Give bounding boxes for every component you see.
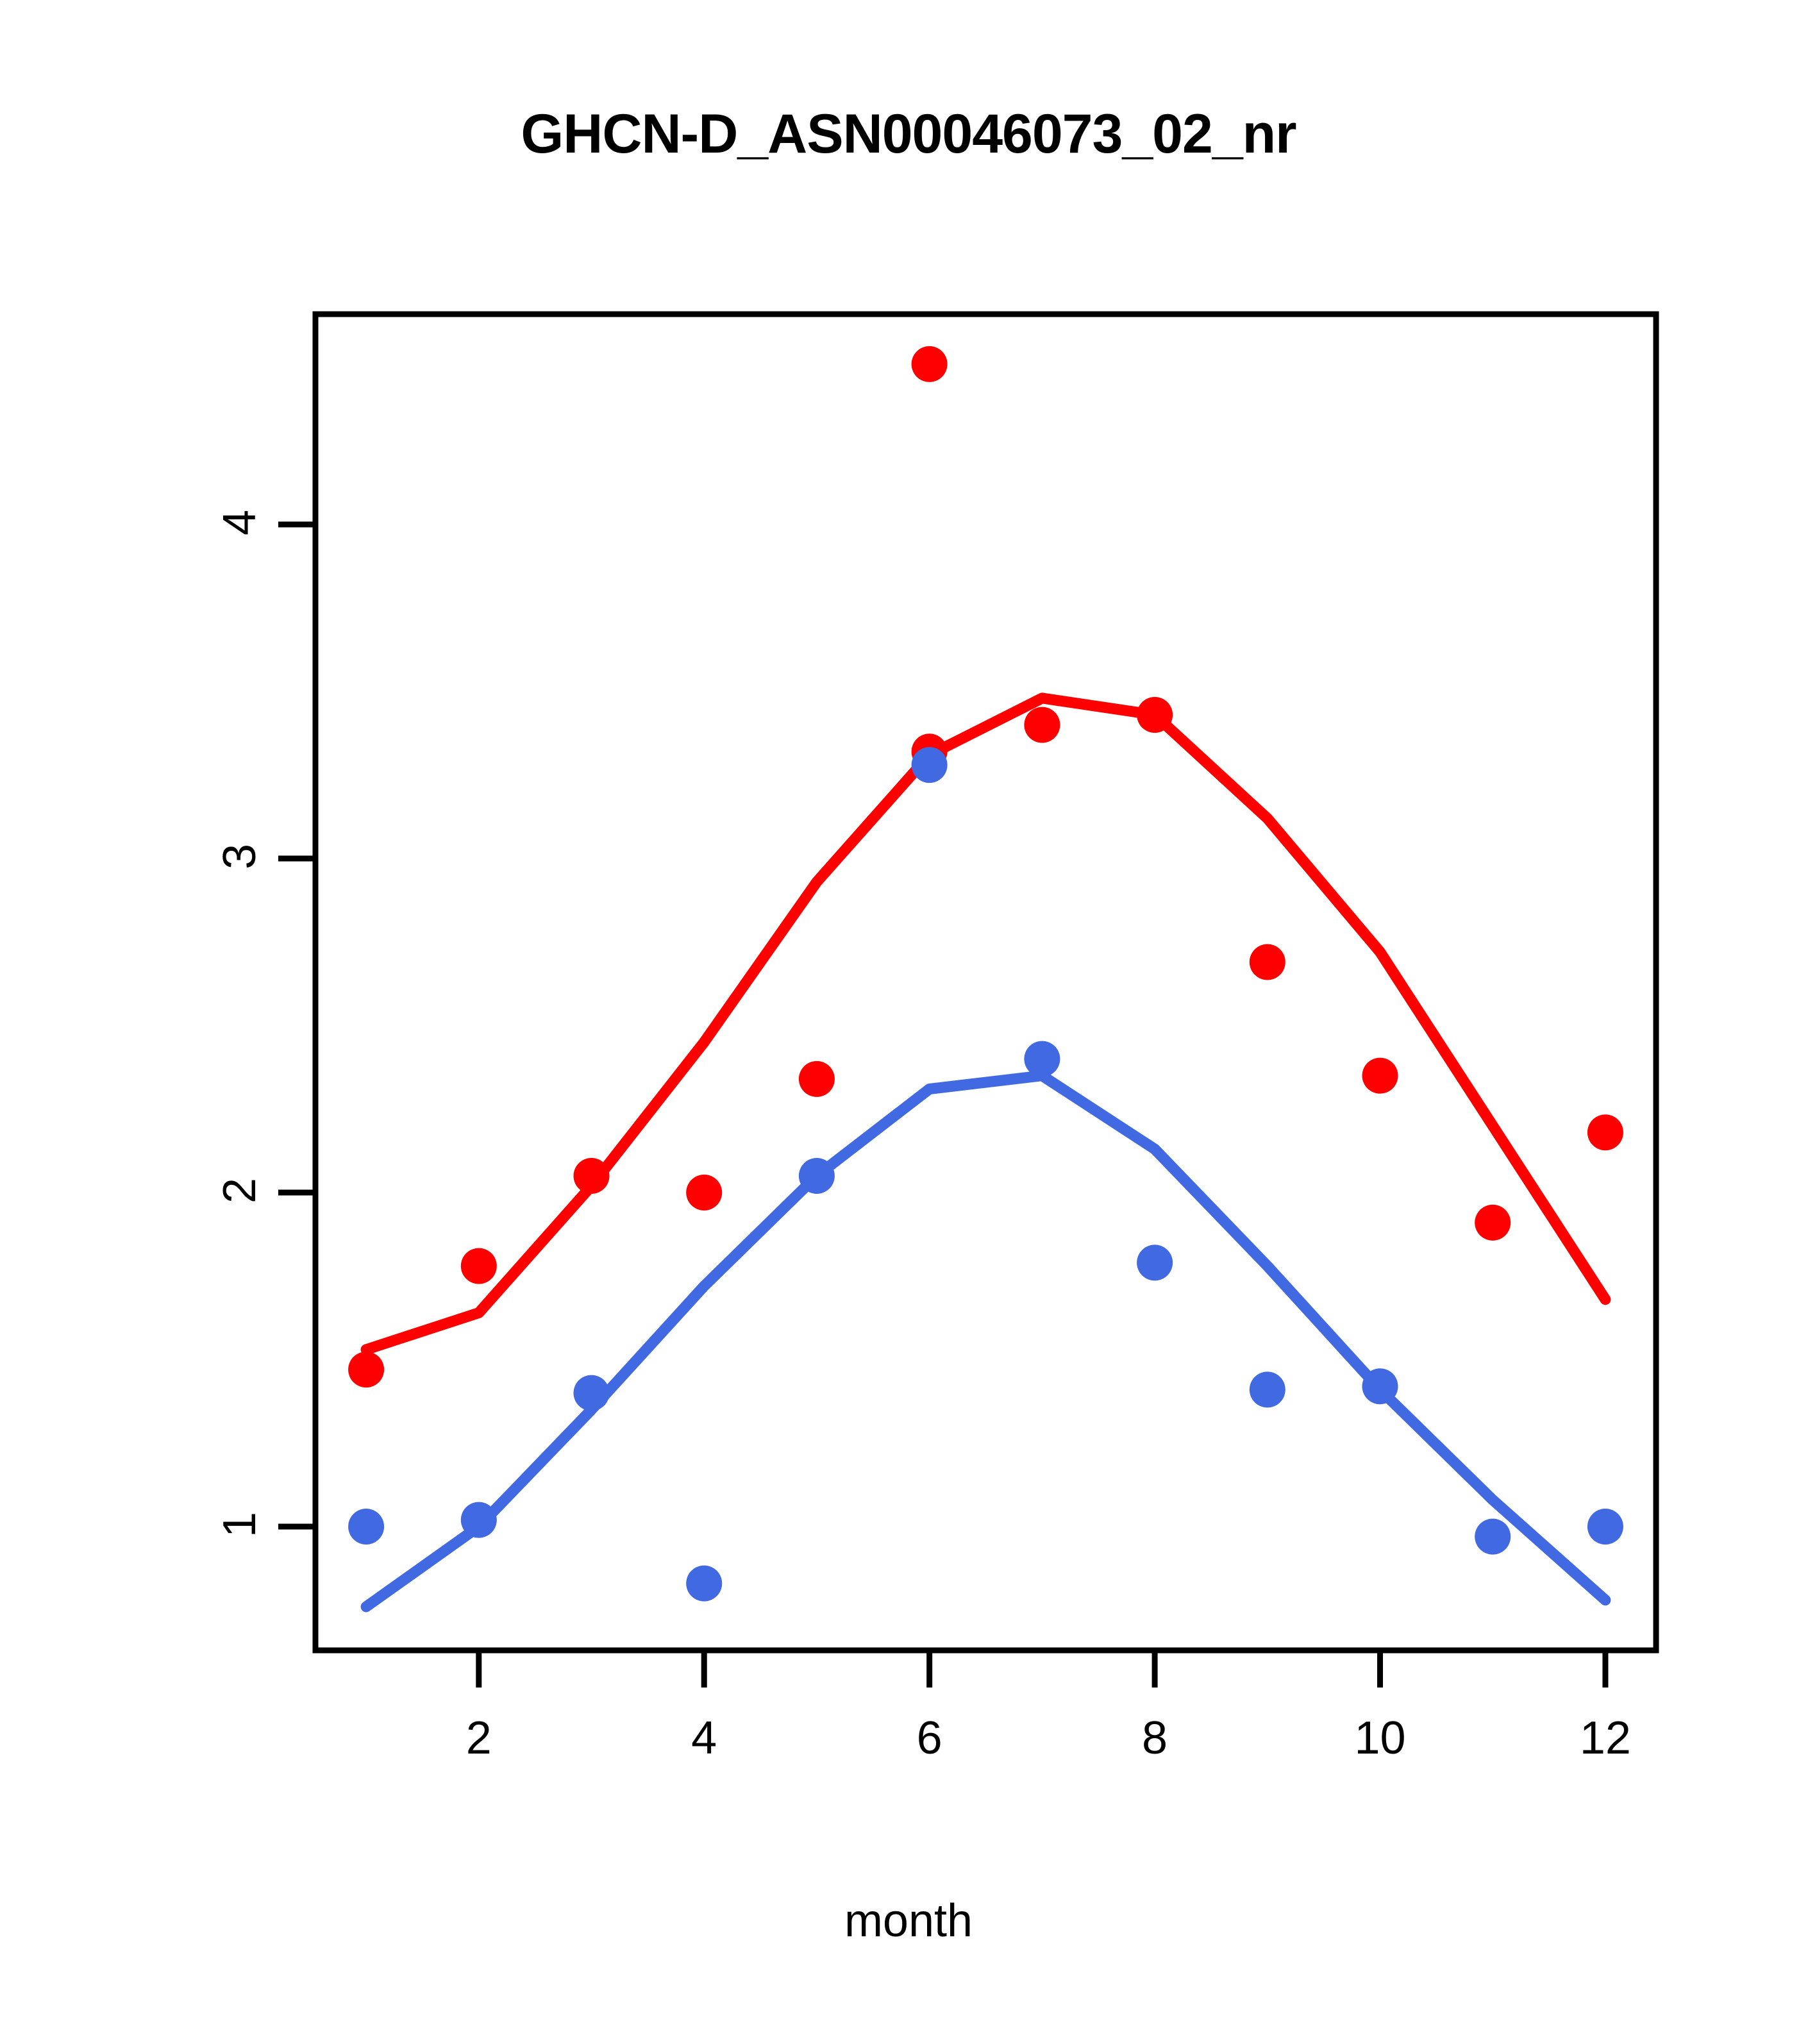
plot-frame (315, 314, 1656, 1650)
data-point (799, 1061, 835, 1097)
data-point (1475, 1205, 1511, 1241)
data-point (1362, 1058, 1398, 1094)
x-tick-label: 12 (1554, 1712, 1657, 1764)
data-point (1250, 1371, 1285, 1407)
series-points-blue-points (348, 747, 1623, 1602)
x-tick-label: 10 (1329, 1712, 1432, 1764)
data-point (1137, 1244, 1173, 1280)
data-point (912, 747, 948, 783)
data-point (912, 346, 948, 382)
x-tick-label: 2 (428, 1712, 530, 1764)
y-tick-label: 4 (214, 484, 266, 561)
series-line-red-line (366, 698, 1605, 1350)
x-tick-label: 8 (1103, 1712, 1206, 1764)
data-point (461, 1248, 497, 1284)
series-points-red-points (348, 346, 1623, 1387)
x-axis-ticks (479, 1650, 1605, 1688)
data-point (1587, 1114, 1623, 1150)
data-point (348, 1352, 384, 1387)
data-point (1587, 1509, 1623, 1545)
data-point (1024, 707, 1060, 743)
y-axis-ticks (278, 524, 315, 1527)
y-tick-label: 2 (214, 1152, 266, 1229)
data-point (686, 1566, 722, 1602)
data-point (1475, 1519, 1511, 1555)
x-tick-label: 6 (878, 1712, 981, 1764)
data-point (348, 1509, 384, 1545)
x-tick-label: 4 (653, 1712, 755, 1764)
data-series-layer (348, 346, 1623, 1607)
y-tick-label: 3 (214, 818, 266, 895)
data-point (686, 1175, 722, 1210)
x-axis-title: month (0, 1895, 1817, 1947)
data-point (1250, 944, 1285, 980)
series-line-blue-line (366, 1076, 1605, 1607)
chart-page: GHCN-D_ASN00046073_02_nr 1234 24681012 m… (0, 0, 1817, 2044)
y-tick-label: 1 (214, 1486, 266, 1563)
